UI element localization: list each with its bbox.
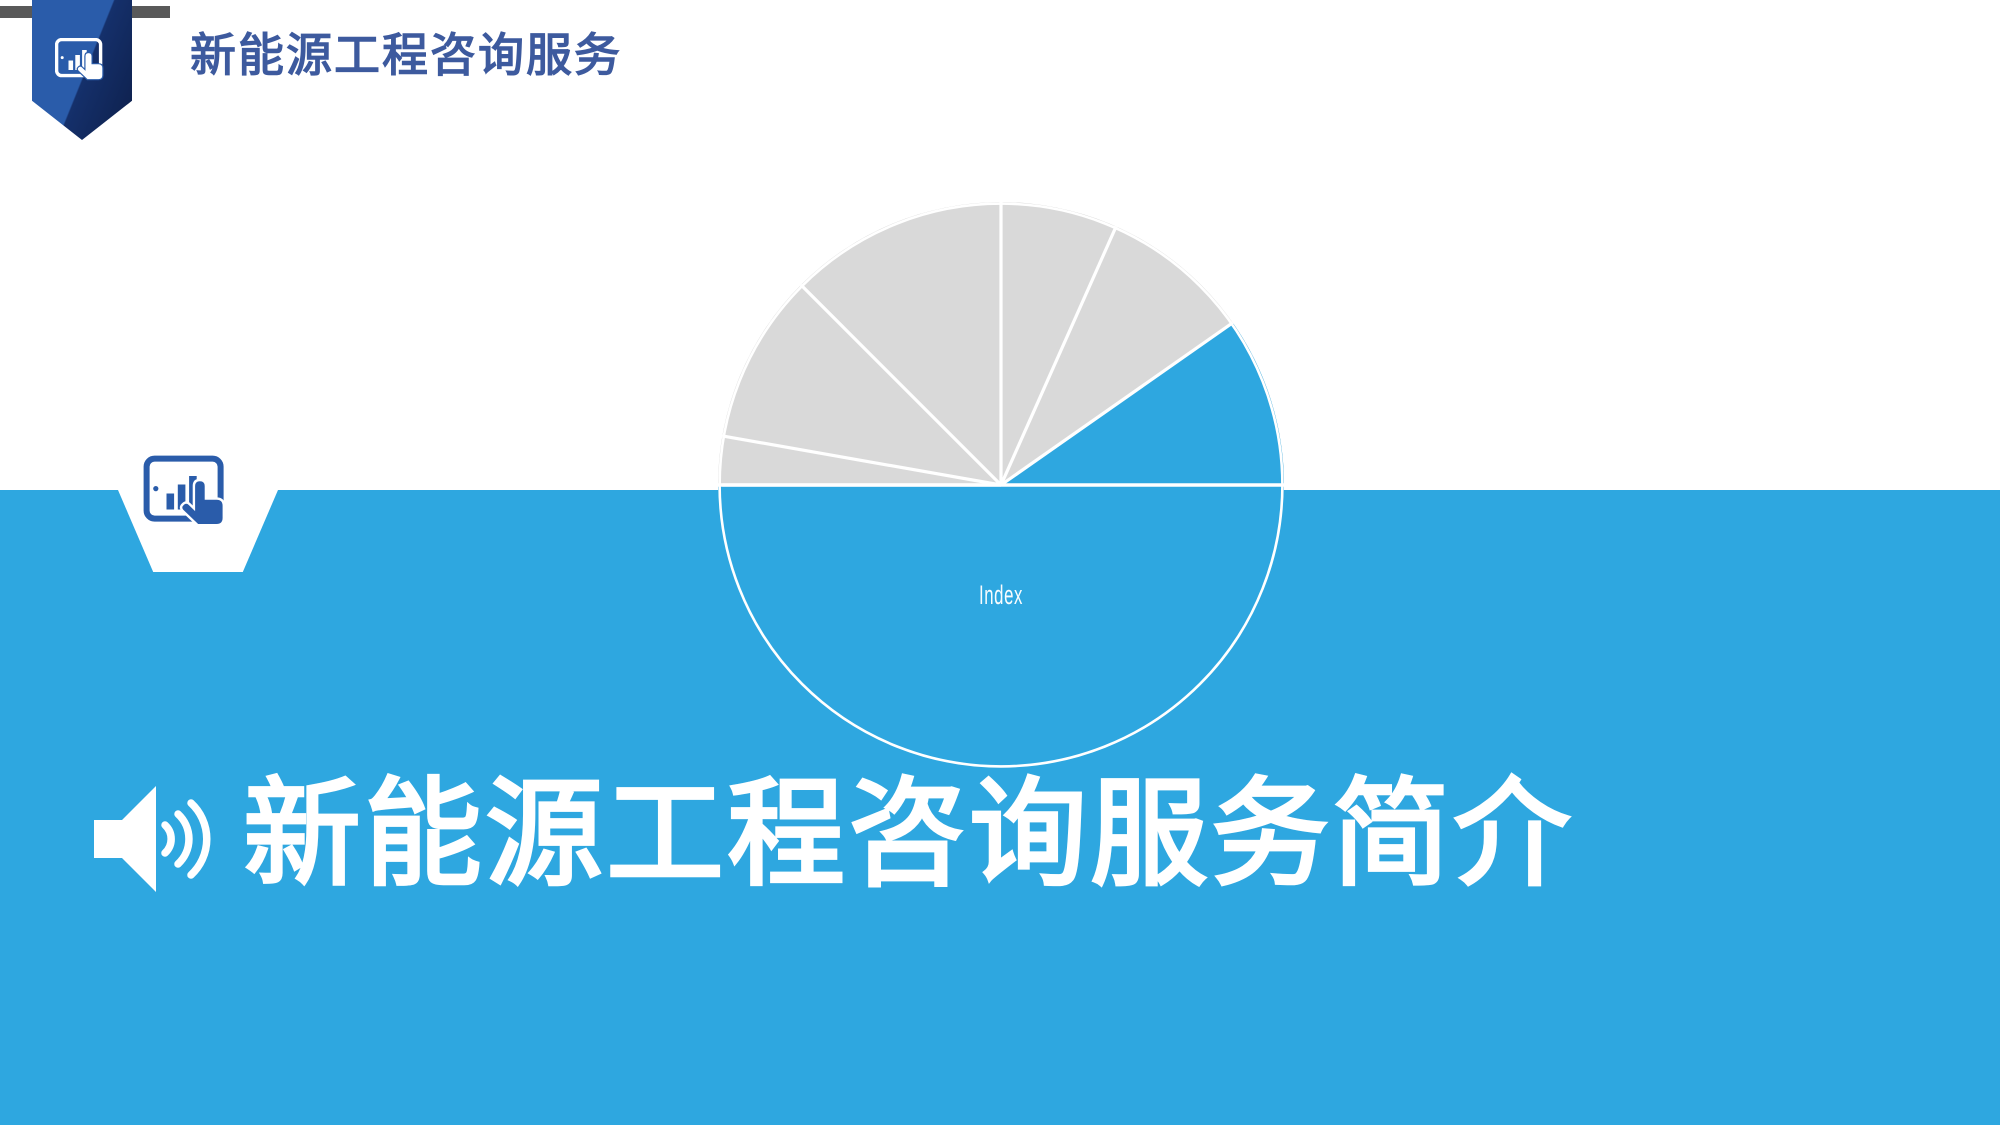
pie-blue-half — [718, 485, 1284, 768]
speaker-volume-icon — [88, 778, 216, 900]
index-wheel-chart — [718, 202, 1284, 768]
tablet-bar-chart-touch-icon — [138, 452, 248, 530]
index-wheel-label: Index — [826, 580, 1177, 611]
slide-canvas: 新能源工程咨询服务 — [0, 0, 2000, 1125]
section-title: 新能源工程咨询服务简介 — [243, 760, 1574, 911]
header-ribbon-badge — [32, 0, 132, 140]
page-title: 新能源工程咨询服务 — [190, 28, 622, 83]
tablet-bar-chart-touch-icon — [55, 38, 109, 84]
pie-svg — [718, 202, 1284, 768]
